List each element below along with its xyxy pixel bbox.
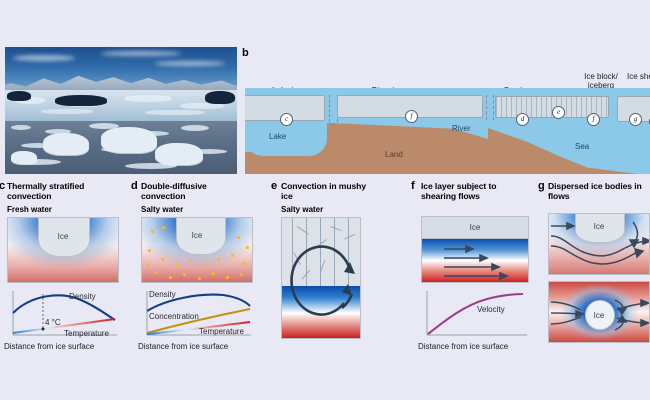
scene-label-river: River <box>452 124 471 133</box>
marker-d-sea-ice: d <box>516 113 529 126</box>
photo-cloud <box>101 51 181 56</box>
scene-label-ice-shelf: Ice she <box>627 72 650 81</box>
panel-c-diagram: Ice <box>7 217 119 283</box>
panel-letter-g: g <box>538 181 545 192</box>
river-sea-gap <box>486 95 487 120</box>
photo-cloud <box>155 61 225 66</box>
panel-g-diagram-bottom: Ice <box>548 281 650 343</box>
salt-particle <box>162 226 165 229</box>
panel-letter-f: f <box>411 181 415 192</box>
salt-particle <box>155 271 158 274</box>
marker-f-sea-ice: f <box>587 113 600 126</box>
land-shelf-slope <box>488 128 638 174</box>
panel-c-subtitle: Fresh water <box>7 206 52 214</box>
panel-g-top-flow-lines <box>549 214 650 275</box>
marker-c: c <box>280 113 293 126</box>
photo-dark-rock <box>205 91 235 104</box>
panel-c-ice-label: Ice <box>8 232 118 241</box>
salt-particle <box>246 246 249 249</box>
panel-d-graph: Density Concentration Temperature <box>141 289 253 341</box>
salt-particle <box>243 262 246 265</box>
panel-f-shear-arrows <box>422 217 529 283</box>
salt-particle <box>169 276 172 279</box>
photo-cloud <box>13 55 75 61</box>
salt-particle <box>212 272 215 275</box>
photo-ice-floe <box>155 143 203 165</box>
panel-d-diagram: Ice <box>141 217 253 283</box>
photo-brash-ice <box>11 125 31 130</box>
marker-e-sea-ice: e <box>552 106 565 119</box>
salt-particle <box>189 259 192 262</box>
photo-ice-floe <box>101 127 157 153</box>
photo-ice-floe <box>11 151 37 164</box>
photo-glacier-texture <box>41 109 93 114</box>
panel-d-temperature-label: Temperature <box>199 328 244 336</box>
salt-particle <box>151 230 154 233</box>
salt-particle <box>148 249 151 252</box>
photo-dark-rock <box>7 91 31 101</box>
salt-particle <box>203 265 206 268</box>
salt-particle <box>226 276 229 279</box>
photo-glacier-texture <box>125 95 171 102</box>
salt-particle <box>161 258 164 261</box>
panel-e-convection-arrow <box>282 218 361 339</box>
panel-g-diagram-top: Ice <box>548 213 650 275</box>
panel-e-subtitle: Salty water <box>281 206 323 214</box>
figure-root: b Lake ice River ice Sea ice Ice block/ … <box>0 0 650 400</box>
panel-letter-d: d <box>131 181 138 192</box>
panel-d-axis-caption: Distance from ice surface <box>138 343 228 351</box>
scene-label-land: Land <box>385 150 403 159</box>
salt-particle <box>217 258 220 261</box>
panel-c-density-label: Density <box>69 293 96 301</box>
panel-f-title: Ice layer subject to shearing flows <box>421 181 526 202</box>
panel-d-concentration-label: Concentration <box>149 313 199 321</box>
panel-c-graph: Density 4 °C Temperature <box>7 289 119 341</box>
photo-glacier-texture <box>145 110 205 115</box>
panel-c-temperature-label: Temperature <box>64 330 109 338</box>
salt-particle <box>175 264 178 267</box>
salt-particle <box>147 264 150 267</box>
panel-d-ice-label: Ice <box>142 231 252 240</box>
glacier-photograph <box>5 47 237 174</box>
panel-letter-c: c <box>0 181 5 192</box>
scene-label-sea: Sea <box>575 142 589 151</box>
panel-c-title: Thermally stratified convection <box>7 181 115 202</box>
panel-f-velocity-label: Velocity <box>477 306 505 314</box>
panel-c-axis-caption: Distance from ice surface <box>4 343 94 351</box>
panel-f-plot <box>421 289 529 341</box>
salt-particle <box>198 277 201 280</box>
panel-f-axis-caption: Distance from ice surface <box>418 343 508 351</box>
photo-ice-floe <box>43 133 89 155</box>
photo-brash-ice <box>181 125 209 131</box>
panel-e-diagram <box>281 217 361 339</box>
panel-c-four-degrees-label: 4 °C <box>45 319 61 327</box>
marker-g-iceberg: g <box>629 113 642 126</box>
photo-dark-rock <box>55 95 107 106</box>
panel-d-subtitle: Salty water <box>141 206 183 214</box>
panel-g-title: Dispersed ice bodies in flows <box>548 181 646 202</box>
panel-f-graph: Velocity <box>421 289 529 341</box>
lake-river-gap <box>329 95 330 122</box>
salt-particle <box>240 273 243 276</box>
river-sea-gap <box>493 95 494 120</box>
scene-label-lake: Lake <box>269 132 286 141</box>
panel-letter-e: e <box>271 181 277 192</box>
cryosphere-cross-section: c f d e f g d Lake River Land Sea <box>245 88 650 174</box>
panel-d-density-label: Density <box>149 291 176 299</box>
panel-e-title: Convection in mushy ice <box>281 181 373 202</box>
panel-letter-b: b <box>242 48 249 59</box>
marker-f-river: f <box>405 110 418 123</box>
panel-g-bottom-flow-lines <box>549 282 650 343</box>
panel-f-diagram: Ice <box>421 216 529 283</box>
salt-particle <box>237 236 240 239</box>
salt-particle <box>183 273 186 276</box>
panel-d-title: Double-diffusive convection <box>141 181 249 202</box>
salt-particle <box>231 254 234 257</box>
